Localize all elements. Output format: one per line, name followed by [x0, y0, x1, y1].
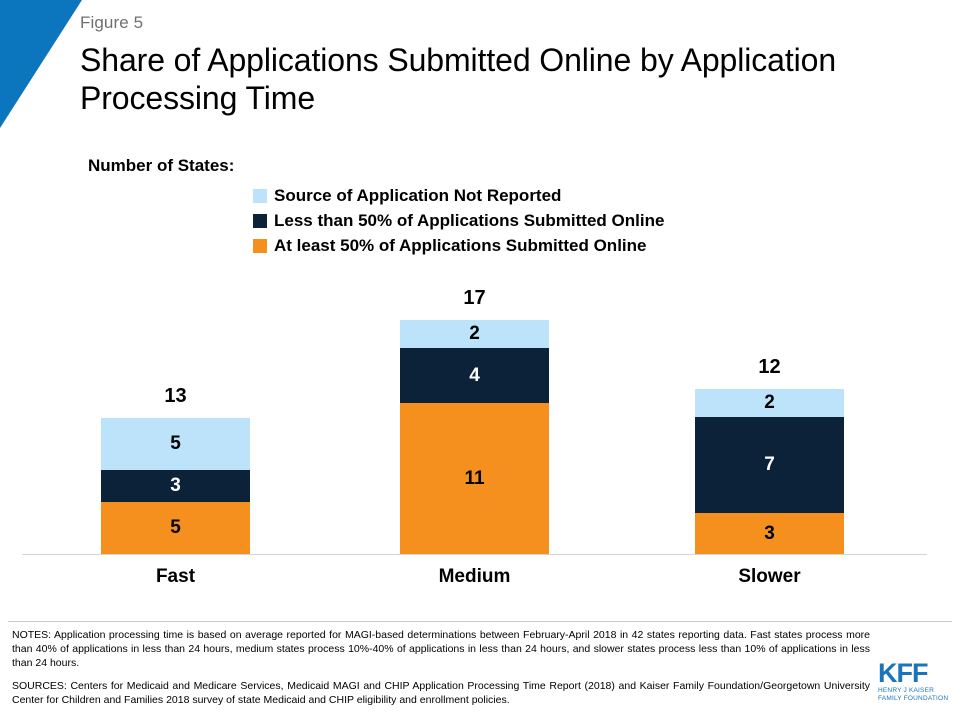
slide-header: Figure 5 Share of Applications Submitted… — [80, 12, 900, 117]
footer-text: NOTES: Application processing time is ba… — [12, 628, 870, 716]
notes-text: NOTES: Application processing time is ba… — [12, 628, 870, 670]
kff-logo-line1: HENRY J KAISER — [878, 687, 950, 695]
chart-legend: Number of States: Source of Application … — [88, 155, 868, 258]
page-title: Share of Applications Submitted Online b… — [80, 41, 900, 117]
bar-segment-slower-not-reported: 2 — [695, 389, 844, 417]
sources-text: SOURCES: Centers for Medicaid and Medica… — [12, 679, 870, 707]
bar-group-slower: 12 2 7 3 Slower — [695, 389, 844, 554]
category-label-slower: Slower — [675, 554, 864, 588]
bar-total-label-medium: 17 — [400, 287, 549, 320]
bar-total-label-fast: 13 — [101, 385, 250, 418]
legend-swatch-icon-less-than-50 — [253, 214, 267, 228]
legend-swatch-icon-at-least-50 — [253, 239, 267, 253]
bar-segment-slower-less-than-50: 7 — [695, 417, 844, 513]
bar-segment-medium-less-than-50: 4 — [400, 348, 549, 403]
bar-segment-fast-at-least-50: 5 — [101, 502, 250, 554]
legend-item-not-reported: Source of Application Not Reported — [253, 183, 868, 208]
category-label-fast: Fast — [81, 554, 270, 588]
bar-total-label-slower: 12 — [695, 356, 844, 389]
bar-stack-medium: 2 4 11 — [400, 320, 549, 554]
figure-label: Figure 5 — [80, 12, 900, 34]
bar-segment-medium-at-least-50: 11 — [400, 403, 549, 554]
bar-segment-slower-at-least-50: 3 — [695, 513, 844, 554]
legend-label-at-least-50: At least 50% of Applications Submitted O… — [274, 233, 646, 258]
bar-group-medium: 17 2 4 11 Medium — [400, 320, 549, 554]
bar-stack-fast: 5 3 5 — [101, 418, 250, 554]
legend-swatch-icon-not-reported — [253, 189, 267, 203]
legend-label-not-reported: Source of Application Not Reported — [274, 183, 561, 208]
kff-logo-line2: FAMILY FOUNDATION — [878, 695, 950, 703]
bar-stack-slower: 2 7 3 — [695, 389, 844, 554]
legend-item-less-than-50: Less than 50% of Applications Submitted … — [253, 208, 868, 233]
category-label-medium: Medium — [380, 554, 569, 588]
bar-segment-fast-less-than-50: 3 — [101, 470, 250, 502]
footer-divider — [8, 621, 952, 622]
kff-logo-mark: KFF — [878, 660, 950, 687]
corner-accent-triangle — [0, 0, 82, 128]
chart-plot-area: 13 5 3 5 Fast 17 2 4 11 Medium 12 2 7 3 … — [0, 280, 960, 600]
legend-heading: Number of States: — [88, 155, 868, 177]
bar-segment-fast-not-reported: 5 — [101, 418, 250, 470]
kff-logo: KFF HENRY J KAISER FAMILY FOUNDATION — [878, 660, 950, 703]
bar-group-fast: 13 5 3 5 Fast — [101, 418, 250, 554]
bar-segment-medium-not-reported: 2 — [400, 320, 549, 348]
legend-label-less-than-50: Less than 50% of Applications Submitted … — [274, 208, 664, 233]
legend-item-at-least-50: At least 50% of Applications Submitted O… — [253, 233, 868, 258]
